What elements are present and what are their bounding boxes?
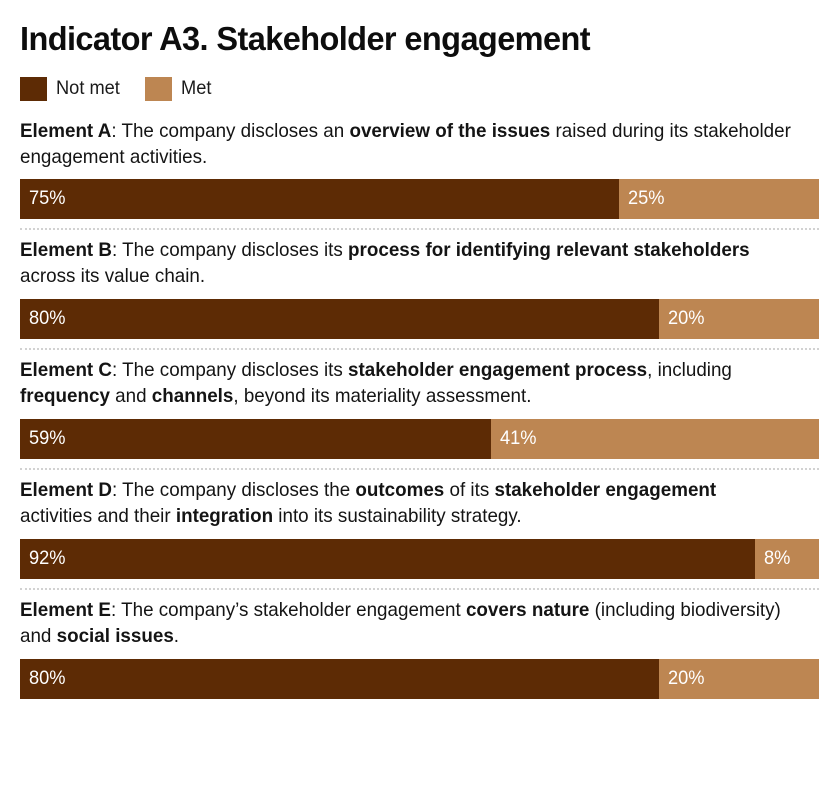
bar-segment-met[interactable]: 25%	[619, 179, 819, 219]
legend-item[interactable]: Not met	[20, 77, 123, 101]
element-row-element-c: Element C: The company discloses its sta…	[20, 358, 819, 459]
stacked-bar-element-d: 92%8%	[20, 539, 819, 579]
element-separator	[20, 228, 819, 230]
bar-segment-value: 20%	[668, 668, 705, 690]
bar-segment-value: 41%	[500, 428, 537, 450]
bar-segment-value: 8%	[764, 548, 790, 570]
stacked-bar-element-c: 59%41%	[20, 419, 819, 459]
stacked-bar-element-a: 75%25%	[20, 179, 819, 219]
bar-segment-met[interactable]: 20%	[659, 299, 819, 339]
legend-swatch-not-met	[20, 77, 47, 101]
page-title: Indicator A3. Stakeholder engagement	[20, 0, 807, 57]
element-row-element-e: Element E: The company’s stakeholder eng…	[20, 598, 819, 699]
legend-item[interactable]: Met	[145, 77, 213, 101]
bar-segment-not-met[interactable]: 80%	[20, 659, 659, 699]
legend: Not metMet	[20, 77, 819, 101]
bar-segment-not-met[interactable]: 75%	[20, 179, 619, 219]
element-description: Element E: The company’s stakeholder eng…	[20, 598, 791, 650]
chart-page: Indicator A3. Stakeholder engagement Not…	[0, 0, 839, 793]
legend-label: Met	[181, 78, 211, 100]
legend-swatch-met	[145, 77, 172, 101]
bar-segment-not-met[interactable]: 92%	[20, 539, 755, 579]
bar-segment-value: 20%	[668, 308, 705, 330]
bar-segment-not-met[interactable]: 80%	[20, 299, 659, 339]
legend-label: Not met	[56, 78, 120, 100]
bar-segment-value: 80%	[29, 668, 66, 690]
bar-segment-value: 92%	[29, 548, 66, 570]
element-description: Element C: The company discloses its sta…	[20, 358, 791, 410]
stacked-bar-element-b: 80%20%	[20, 299, 819, 339]
bar-segment-met[interactable]: 8%	[755, 539, 819, 579]
bar-segment-not-met[interactable]: 59%	[20, 419, 491, 459]
bar-segment-value: 59%	[29, 428, 66, 450]
element-separator	[20, 588, 819, 590]
element-row-element-d: Element D: The company discloses the out…	[20, 478, 819, 579]
element-row-element-a: Element A: The company discloses an over…	[20, 119, 819, 220]
element-description: Element B: The company discloses its pro…	[20, 238, 791, 290]
element-row-element-b: Element B: The company discloses its pro…	[20, 238, 819, 339]
element-separator	[20, 348, 819, 350]
stacked-bar-element-e: 80%20%	[20, 659, 819, 699]
bar-segment-value: 75%	[29, 188, 66, 210]
element-list: Element A: The company discloses an over…	[20, 119, 819, 699]
bar-segment-met[interactable]: 20%	[659, 659, 819, 699]
element-separator	[20, 468, 819, 470]
element-description: Element A: The company discloses an over…	[20, 119, 791, 171]
bar-segment-met[interactable]: 41%	[491, 419, 819, 459]
bar-segment-value: 25%	[628, 188, 665, 210]
bar-segment-value: 80%	[29, 308, 66, 330]
element-description: Element D: The company discloses the out…	[20, 478, 791, 530]
